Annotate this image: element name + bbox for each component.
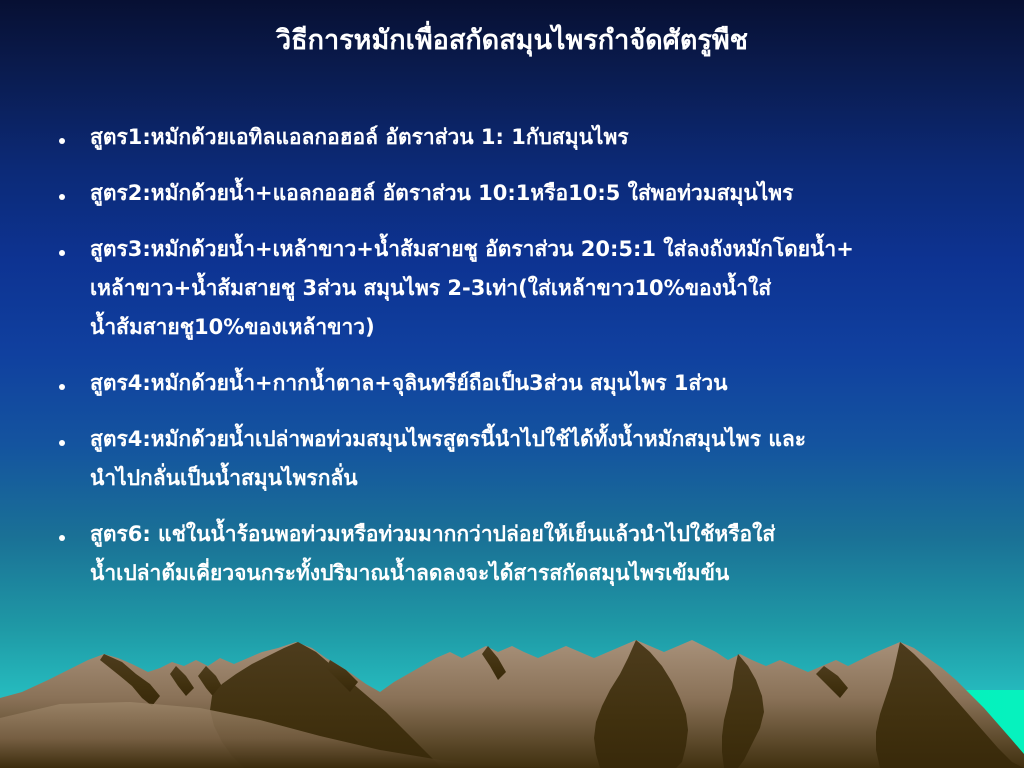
list-item-line: สูตร6: แช่ในน้ำร้อนพอท่วมหรือท่วมมากกว่า…: [90, 515, 976, 554]
list-item: สูตร3:หมักด้วยน้ำ+เหล้าขาว+น้ำส้มสายชู อ…: [52, 230, 976, 347]
list-item-text: สูตร6: แช่ในน้ำร้อนพอท่วมหรือท่วมมากกว่า…: [90, 515, 976, 593]
list-item-line: สูตร4:หมักด้วยน้ำเปล่าพอท่วมสมุนไพรสูตรน…: [90, 420, 976, 459]
list-item-line: เหล้าขาว+น้ำส้มสายชู 3ส่วน สมุนไพร 2-3เท…: [90, 269, 976, 308]
bullet-dot-icon: [52, 230, 90, 261]
bullet-dot-icon: [52, 118, 90, 149]
list-item-line: สูตร1:หมักด้วยเอทิลแอลกอฮอล์ อัตราส่วน 1…: [90, 118, 976, 157]
list-item-line: สูตร2:หมักด้วยน้ำ+แอลกออฮล์ อัตราส่วน 10…: [90, 174, 976, 213]
bullet-dot-icon: [52, 364, 90, 395]
list-item-line: สูตร3:หมักด้วยน้ำ+เหล้าขาว+น้ำส้มสายชู อ…: [90, 230, 976, 269]
list-item-text: สูตร3:หมักด้วยน้ำ+เหล้าขาว+น้ำส้มสายชู อ…: [90, 230, 976, 347]
bullet-dot-icon: [52, 420, 90, 451]
page-title: วิธีการหมักเพื่อสกัดสมุนไพรกำจัดศัตรูพืช: [0, 24, 1024, 58]
list-item-line: สูตร4:หมักด้วยน้ำ+กากน้ำตาล+จุลินทรีย์ถื…: [90, 364, 976, 403]
mountain-range-graphic: [0, 608, 1024, 768]
bullet-list: สูตร1:หมักด้วยเอทิลแอลกอฮอล์ อัตราส่วน 1…: [52, 118, 976, 610]
list-item-line: นำไปกลั่นเป็นน้ำสมุนไพรกลั่น: [90, 459, 976, 498]
list-item-text: สูตร4:หมักด้วยน้ำ+กากน้ำตาล+จุลินทรีย์ถื…: [90, 364, 976, 403]
list-item-text: สูตร2:หมักด้วยน้ำ+แอลกออฮล์ อัตราส่วน 10…: [90, 174, 976, 213]
list-item-text: สูตร4:หมักด้วยน้ำเปล่าพอท่วมสมุนไพรสูตรน…: [90, 420, 976, 498]
bullet-dot-icon: [52, 515, 90, 546]
list-item: สูตร4:หมักด้วยน้ำเปล่าพอท่วมสมุนไพรสูตรน…: [52, 420, 976, 498]
list-item: สูตร1:หมักด้วยเอทิลแอลกอฮอล์ อัตราส่วน 1…: [52, 118, 976, 157]
presentation-slide: วิธีการหมักเพื่อสกัดสมุนไพรกำจัดศัตรูพืช…: [0, 0, 1024, 768]
list-item-line: น้ำส้มสายชู10%ของเหล้าขาว): [90, 308, 976, 347]
list-item: สูตร6: แช่ในน้ำร้อนพอท่วมหรือท่วมมากกว่า…: [52, 515, 976, 593]
bullet-dot-icon: [52, 174, 90, 205]
list-item: สูตร4:หมักด้วยน้ำ+กากน้ำตาล+จุลินทรีย์ถื…: [52, 364, 976, 403]
list-item-line: น้ำเปล่าต้มเคี่ยวจนกระทั้งปริมาณน้ำลดลงจ…: [90, 554, 976, 593]
list-item-text: สูตร1:หมักด้วยเอทิลแอลกอฮอล์ อัตราส่วน 1…: [90, 118, 976, 157]
list-item: สูตร2:หมักด้วยน้ำ+แอลกออฮล์ อัตราส่วน 10…: [52, 174, 976, 213]
